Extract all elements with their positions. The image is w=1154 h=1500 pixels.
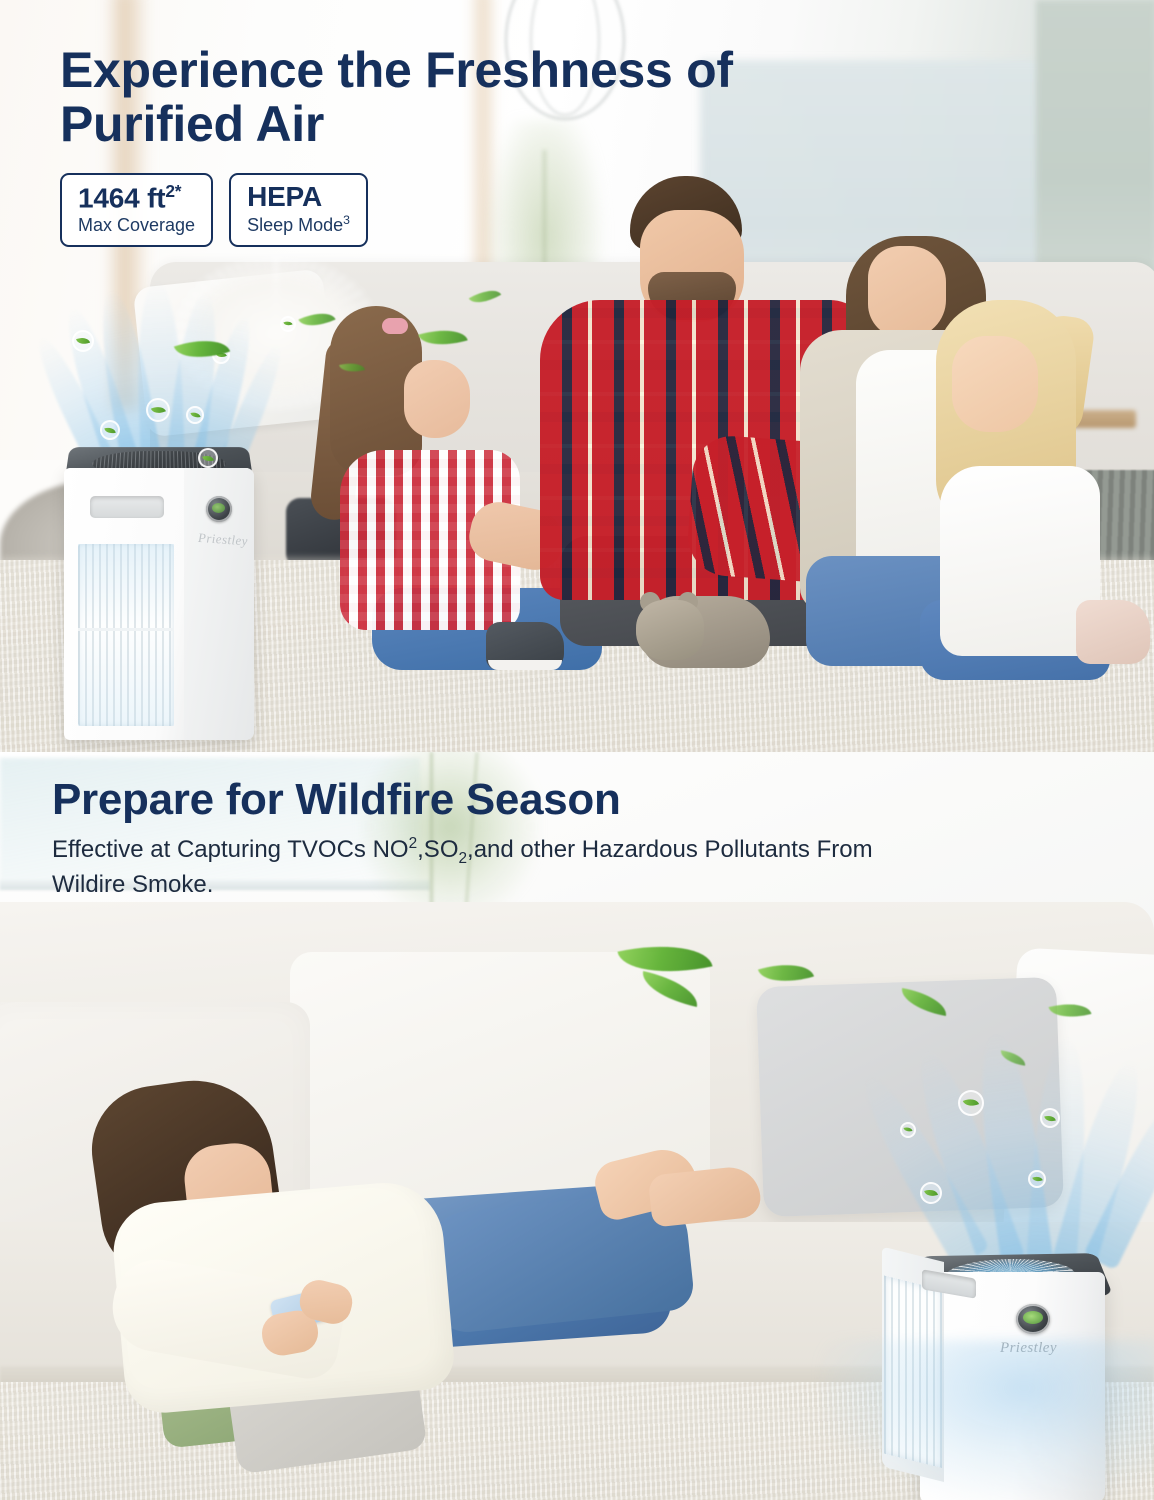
leaf-bubble-icon: [1040, 1108, 1060, 1128]
page-title-bottom: Prepare for Wildfire Season: [52, 776, 952, 824]
sage-wall-panel: [1036, 0, 1154, 300]
badge-max-coverage: 1464 ft2* Max Coverage: [60, 173, 213, 247]
leaf-icon: [104, 426, 116, 435]
subtitle-no-sup: 2: [409, 835, 418, 852]
panel-wildfire-season: Priestley Prepare for Wildfire Season Ef…: [0, 752, 1154, 1500]
panel-experience-freshness: Priestley Experience the Freshness of Pu…: [0, 0, 1154, 752]
headline-block-top: Experience the Freshness of Purified Air…: [60, 44, 920, 247]
headline-block-bottom: Prepare for Wildfire Season Effective at…: [52, 776, 952, 900]
child-gingham-shoe: [486, 622, 564, 670]
air-purifier-front-view: Priestley: [64, 440, 254, 740]
child-blonde-face: [952, 336, 1038, 432]
badge-hepa-label: Sleep Mode3: [247, 213, 350, 236]
leaf-bubble-icon: [900, 1122, 916, 1138]
leaf-icon: [202, 453, 214, 463]
cat-head: [636, 600, 704, 660]
subtitle-part-b: ,SO: [417, 836, 458, 863]
purifier-body-2: [920, 1272, 1105, 1500]
leaf-bubble-icon: [146, 398, 170, 422]
leaf-icon: [1032, 1175, 1042, 1184]
vent-divider: [78, 628, 174, 631]
leaf-icon: [190, 411, 200, 419]
leaf-icon: [924, 1188, 937, 1199]
purifier-intake-vents: [78, 544, 174, 726]
page-title-top: Experience the Freshness of Purified Air: [60, 44, 920, 151]
air-purifier-angled-view: Priestley: [900, 1212, 1120, 1500]
page-subtitle-bottom: Effective at Capturing TVOCs NO2,SO2,and…: [52, 834, 952, 901]
badge-hepa-label-text: Sleep Mode: [247, 215, 343, 235]
subtitle-part-a: Effective at Capturing TVOCs NO: [52, 836, 409, 863]
badge-coverage-value: 1464 ft2*: [78, 182, 195, 213]
leaf-icon: [76, 335, 89, 346]
leaf-bubble-icon: [920, 1182, 942, 1204]
leaf-bubble-icon: [958, 1090, 984, 1116]
purifier-display-knob-2[interactable]: [1016, 1304, 1050, 1334]
purifier-display-knob[interactable]: [206, 496, 232, 522]
woman-face: [868, 246, 946, 338]
hair-tie: [382, 318, 408, 334]
badge-hepa-label-sup: 3: [343, 213, 350, 227]
purifier-intake-vents-2: [884, 1276, 942, 1468]
brand-logo-2: Priestley: [1000, 1340, 1080, 1358]
badge-coverage-sup: 2*: [165, 181, 181, 201]
leaf-bubble-icon: [280, 316, 296, 332]
leaf-icon: [904, 1127, 913, 1134]
product-infographic-page: Priestley Experience the Freshness of Pu…: [0, 0, 1154, 1500]
leaf-bubble-icon: [198, 448, 218, 468]
badge-coverage-label: Max Coverage: [78, 215, 195, 236]
badge-hepa-sleep: HEPA Sleep Mode3: [229, 173, 368, 247]
purifier-handle: [90, 496, 164, 518]
pillow-gray: [756, 977, 1064, 1217]
leaf-bubble-icon: [186, 406, 204, 424]
leaf-bubble-icon: [100, 420, 120, 440]
child-blonde-shoe: [1076, 600, 1150, 664]
child-gingham-face: [404, 360, 470, 438]
leaf-icon: [284, 320, 293, 327]
badge-coverage-number: 1464 ft: [78, 182, 165, 213]
spec-badges: 1464 ft2* Max Coverage HEPA Sleep Mode3: [60, 173, 920, 247]
leaf-icon: [150, 404, 165, 417]
leaf-bubble-icon: [72, 330, 94, 352]
subtitle-so-sub: 2: [458, 849, 467, 866]
leaf-icon: [963, 1096, 980, 1110]
leaf-bubble-icon: [1028, 1170, 1046, 1188]
leaf-icon: [1044, 1113, 1056, 1122]
badge-hepa-value: HEPA: [247, 182, 350, 211]
